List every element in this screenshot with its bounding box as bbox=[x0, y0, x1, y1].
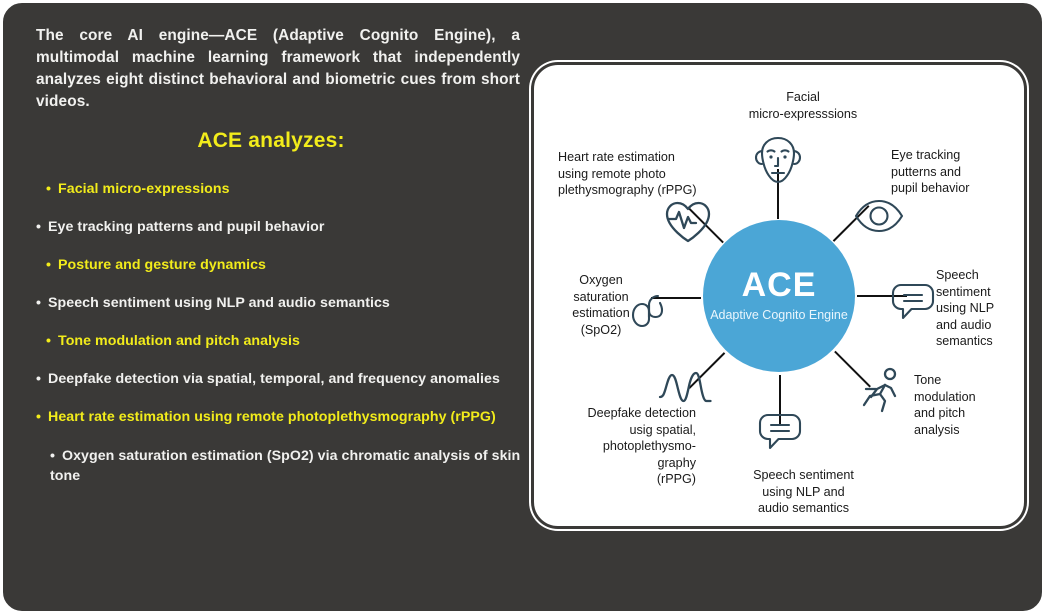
intro-paragraph: The core AI engine—ACE (Adaptive Cognito… bbox=[36, 25, 520, 113]
node-label-tone: Tonemodulationand pitchanalysis bbox=[914, 372, 1004, 438]
bullet-dot-icon: • bbox=[36, 219, 41, 235]
node-label-heart: Heart rate estimationusing remote photop… bbox=[558, 149, 748, 199]
runner-icon bbox=[858, 367, 904, 415]
waveform-icon bbox=[658, 369, 718, 409]
bullet-text: Oxygen saturation estimation (SpO2) via … bbox=[50, 448, 520, 484]
bullet-item: • Eye tracking patterns and pupil behavi… bbox=[36, 217, 526, 237]
node-label-oxygen: Oxygensaturationestimation(SpO2) bbox=[546, 272, 656, 338]
bullet-text: Heart rate estimation using remote photo… bbox=[48, 409, 496, 425]
left-text-column: The core AI engine—ACE (Adaptive Cognito… bbox=[36, 25, 526, 595]
bullet-text: Eye tracking patterns and pupil behavior bbox=[48, 219, 324, 235]
bullet-text: Speech sentiment using NLP and audio sem… bbox=[48, 295, 390, 311]
bullet-dot-icon: • bbox=[46, 181, 51, 197]
bullet-dot-icon: • bbox=[36, 371, 41, 387]
ace-diagram-panel: ACE Adaptive Cognito Engine bbox=[534, 65, 1024, 526]
ace-hub-circle: ACE Adaptive Cognito Engine bbox=[703, 220, 855, 372]
bullet-text: Deepfake detection via spatial, temporal… bbox=[48, 371, 500, 387]
bullet-text: Tone modulation and pitch analysis bbox=[58, 333, 300, 349]
bullet-item: • Speech sentiment using NLP and audio s… bbox=[36, 293, 526, 313]
bullet-item: • Oxygen saturation estimation (SpO2) vi… bbox=[36, 446, 526, 486]
eye-icon bbox=[854, 199, 904, 233]
bullet-item: • Deepfake detection via spatial, tempor… bbox=[36, 369, 526, 389]
node-label-speech-bottom: Speech sentimentusing NLP andaudio seman… bbox=[721, 467, 886, 517]
node-label-deepfake: Deepfake detectionusig spatial,photoplet… bbox=[556, 405, 696, 488]
bullet-dot-icon: • bbox=[36, 409, 41, 425]
speech-bubble-icon bbox=[891, 282, 935, 324]
slide-canvas: The core AI engine—ACE (Adaptive Cognito… bbox=[0, 0, 1045, 614]
bullet-item: • Posture and gesture dynamics bbox=[36, 255, 526, 275]
bullet-list: • Facial micro-expressions• Eye tracking… bbox=[36, 179, 526, 486]
face-icon bbox=[751, 135, 805, 193]
node-label-eye: Eye trackingputterns andpupil behavior bbox=[891, 147, 1019, 197]
bullet-item: • Tone modulation and pitch analysis bbox=[36, 331, 526, 351]
node-label-speech-right: Speechsentimentusing NLPand audiosemanti… bbox=[936, 267, 1022, 350]
diagram-canvas: ACE Adaptive Cognito Engine bbox=[536, 67, 1022, 524]
speech-bubble-icon bbox=[758, 412, 802, 454]
bullet-dot-icon: • bbox=[46, 333, 51, 349]
bullet-text: Posture and gesture dynamics bbox=[58, 257, 266, 273]
bullet-dot-icon: • bbox=[36, 295, 41, 311]
bullet-text: Facial micro-expressions bbox=[58, 181, 230, 197]
ace-hub-title: ACE bbox=[742, 268, 817, 302]
bullet-item: • Heart rate estimation using remote pho… bbox=[36, 407, 526, 427]
node-label-facial: Facialmicro-expresssions bbox=[728, 89, 878, 122]
bullet-item: • Facial micro-expressions bbox=[36, 179, 526, 199]
analyzes-heading: ACE analyzes: bbox=[36, 129, 506, 153]
bullet-dot-icon: • bbox=[46, 257, 51, 273]
bullet-dot-icon: • bbox=[50, 448, 55, 464]
heart-pulse-icon bbox=[664, 200, 712, 244]
ace-hub-subtitle: Adaptive Cognito Engine bbox=[710, 308, 848, 323]
